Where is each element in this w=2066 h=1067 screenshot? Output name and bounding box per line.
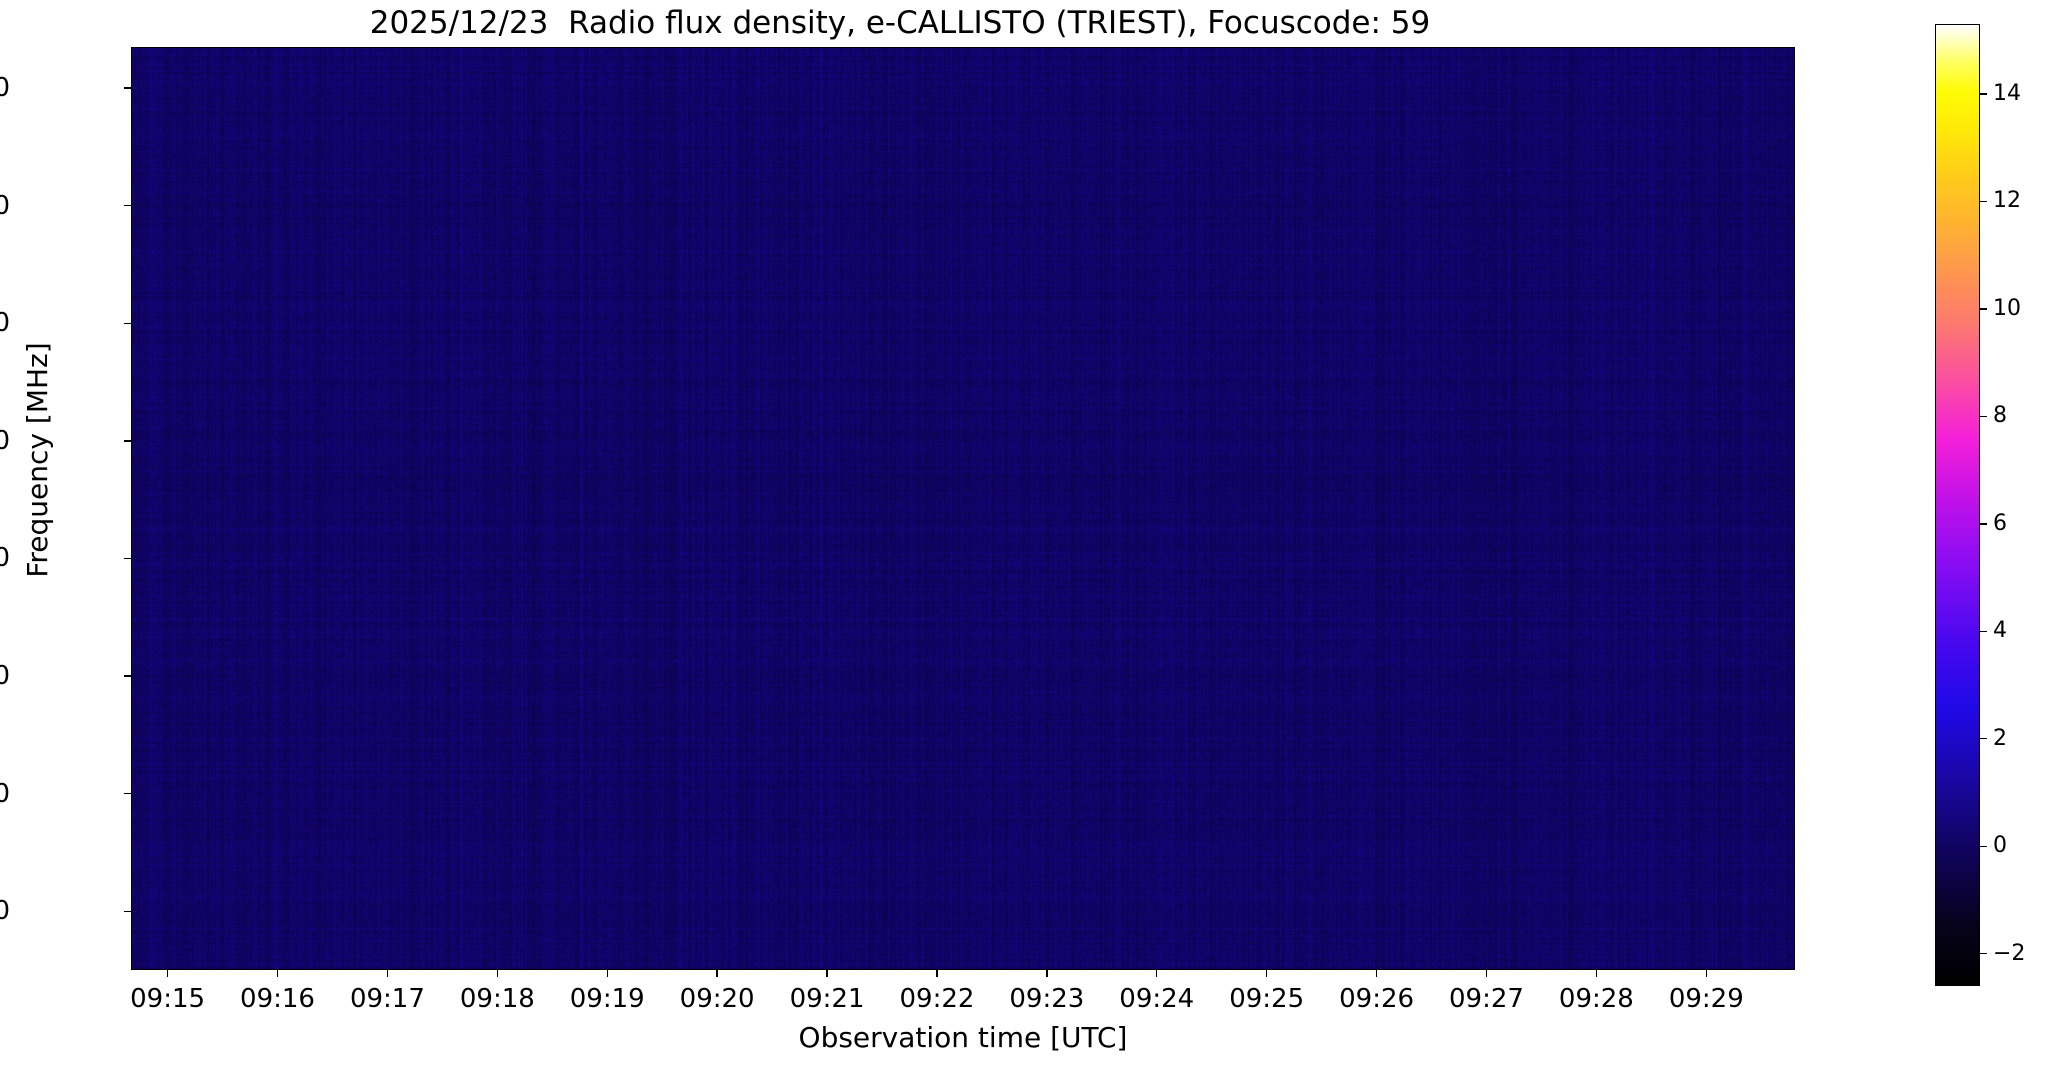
spectrogram-figure: 2025/12/23 Radio flux density, e-CALLIST… (0, 0, 2066, 1067)
colorbar-tick-mark (1980, 631, 1987, 632)
y-axis-tick-label: 320 (0, 428, 10, 454)
y-axis-tick-label: 280 (0, 663, 10, 689)
y-axis-tick-mark (124, 440, 131, 441)
colorbar-tick-mark (1980, 523, 1987, 524)
colorbar-tick-label: 0 (1993, 835, 2007, 857)
x-axis-tick-mark (277, 970, 278, 977)
y-axis-label: Frequency [MHz] (23, 160, 53, 760)
colorbar-tick-mark (1980, 416, 1987, 417)
y-axis-tick-mark (124, 675, 131, 676)
y-axis-tick-mark (124, 558, 131, 559)
y-axis-tick-label: 240 (0, 898, 10, 924)
colorbar-tick-label: 14 (1993, 83, 2021, 105)
colorbar[interactable]: −202468101214 (1935, 24, 1980, 986)
y-axis-tick-mark (124, 87, 131, 88)
colorbar-tick-mark (1980, 953, 1987, 954)
x-axis-tick-mark (1596, 970, 1597, 977)
y-axis-tick-label: 300 (0, 545, 10, 571)
x-axis-tick-mark (1266, 970, 1267, 977)
colorbar-tick-mark (1980, 308, 1987, 309)
y-axis-tick-label: 260 (0, 781, 10, 807)
colorbar-tick-label: 10 (1993, 298, 2021, 320)
x-axis-tick-mark (1156, 970, 1157, 977)
colorbar-tick-mark (1980, 738, 1987, 739)
y-axis-tick-label: 360 (0, 193, 10, 219)
page-title: 2025/12/23 Radio flux density, e-CALLIST… (0, 4, 1800, 42)
y-axis-tick-label: 380 (0, 75, 10, 101)
x-axis-tick-mark (716, 970, 717, 977)
x-axis-tick-mark (387, 970, 388, 977)
x-axis-tick-mark (497, 970, 498, 977)
x-axis-tick-mark (607, 970, 608, 977)
x-axis-tick-mark (1376, 970, 1377, 977)
colorbar-tick-label: −2 (1993, 943, 2025, 965)
y-axis-tick-mark (124, 911, 131, 912)
spectrogram-noise-canvas (132, 48, 1795, 970)
colorbar-tick-label: 12 (1993, 190, 2021, 212)
x-axis-tick-mark (936, 970, 937, 977)
y-axis-tick-mark (124, 205, 131, 206)
x-axis-tick-mark (167, 970, 168, 977)
y-axis-tick-label: 340 (0, 310, 10, 336)
colorbar-tick-label: 6 (1993, 513, 2007, 535)
x-axis-label: Observation time [UTC] (131, 1022, 1795, 1054)
colorbar-tick-label: 4 (1993, 620, 2007, 642)
colorbar-tick-mark (1980, 201, 1987, 202)
colorbar-tick-label: 2 (1993, 728, 2007, 750)
colorbar-tick-mark (1980, 93, 1987, 94)
x-axis-tick-label: 09:29 (1626, 984, 1786, 1014)
y-axis-tick-mark (124, 323, 131, 324)
x-axis-tick-mark (826, 970, 827, 977)
x-axis-tick-mark (1046, 970, 1047, 977)
colorbar-tick-mark (1980, 846, 1987, 847)
spectrogram-plot-area[interactable] (131, 47, 1795, 970)
colorbar-gradient (1935, 24, 1980, 986)
x-axis-tick-mark (1486, 970, 1487, 977)
y-axis-tick-mark (124, 793, 131, 794)
x-axis-tick-mark (1706, 970, 1707, 977)
colorbar-tick-label: 8 (1993, 405, 2007, 427)
